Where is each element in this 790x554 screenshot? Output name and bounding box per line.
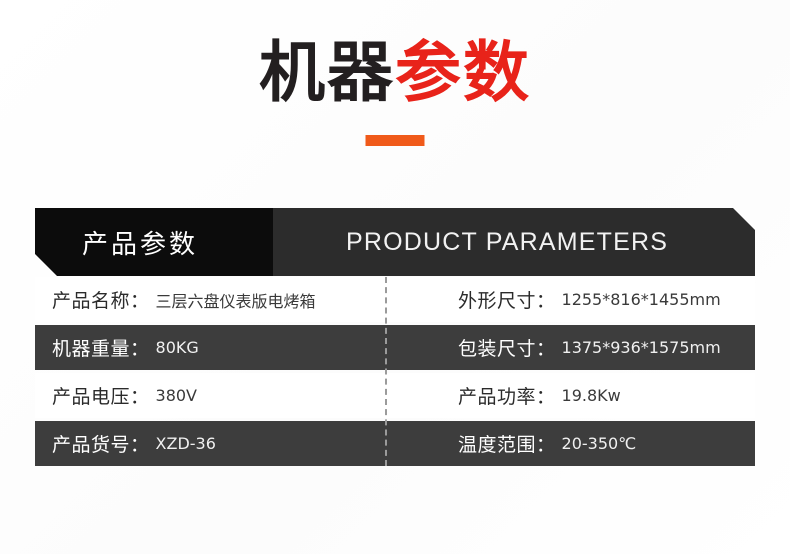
title-underline-bar: [366, 135, 425, 146]
product-parameters-header: 产品参数 PRODUCT PARAMETERS: [35, 208, 755, 276]
spec-cell-right: 温度范围： 20-350℃: [395, 421, 755, 466]
table-row: 机器重量： 80KG 包装尺寸： 1375*936*1575mm: [35, 325, 755, 370]
spec-value: 20-350℃: [562, 434, 637, 453]
spec-key: 产品电压：: [52, 382, 150, 409]
spec-cell-right: 包装尺寸： 1375*936*1575mm: [395, 325, 755, 370]
page-title-dark-part: 机器: [259, 34, 395, 111]
spec-value: 1255*816*1455mm: [562, 290, 721, 309]
spec-key: 产品功率：: [458, 382, 556, 409]
spec-key: 产品货号：: [52, 430, 150, 457]
spec-table: 产品名称： 三层六盘仪表版电烤箱 外形尺寸： 1255*816*1455mm 机…: [35, 277, 755, 466]
spec-cell-left: 机器重量： 80KG: [35, 325, 395, 370]
spec-key: 产品名称：: [52, 286, 150, 313]
spec-cell-right: 外形尺寸： 1255*816*1455mm: [395, 277, 755, 322]
table-row: 产品货号： XZD-36 温度范围： 20-350℃: [35, 421, 755, 466]
table-row: 产品电压： 380V 产品功率： 19.8Kw: [35, 373, 755, 418]
header-english-panel: PRODUCT PARAMETERS: [273, 208, 755, 276]
spec-value: 三层六盘仪表版电烤箱: [156, 288, 316, 312]
product-parameters-page: 机器参数 产品参数 PRODUCT PARAMETERS 产品名称： 三层六盘仪…: [0, 0, 790, 554]
spec-cell-left: 产品电压： 380V: [35, 373, 395, 418]
spec-cell-left: 产品货号： XZD-36: [35, 421, 395, 466]
page-title-accent-part: 参数: [395, 34, 531, 111]
spec-cell-left: 产品名称： 三层六盘仪表版电烤箱: [35, 277, 395, 322]
spec-key: 包装尺寸：: [458, 334, 556, 361]
spec-key: 外形尺寸：: [458, 286, 556, 313]
spec-value: 80KG: [156, 338, 199, 357]
spec-value: 380V: [156, 386, 197, 405]
page-title-text: 机器参数: [0, 38, 790, 107]
spec-table-rows: 产品名称： 三层六盘仪表版电烤箱 外形尺寸： 1255*816*1455mm 机…: [35, 277, 755, 466]
spec-value: 19.8Kw: [562, 386, 621, 405]
spec-key: 温度范围：: [458, 430, 556, 457]
header-english-label: PRODUCT PARAMETERS: [346, 228, 668, 257]
spec-key: 机器重量：: [52, 334, 150, 361]
table-row: 产品名称： 三层六盘仪表版电烤箱 外形尺寸： 1255*816*1455mm: [35, 277, 755, 322]
page-title: 机器参数: [0, 38, 790, 107]
spec-value: XZD-36: [156, 434, 216, 453]
header-chinese-panel: 产品参数: [35, 208, 273, 276]
spec-cell-right: 产品功率： 19.8Kw: [395, 373, 755, 418]
header-chinese-label: 产品参数: [82, 224, 198, 261]
spec-value: 1375*936*1575mm: [562, 338, 721, 357]
